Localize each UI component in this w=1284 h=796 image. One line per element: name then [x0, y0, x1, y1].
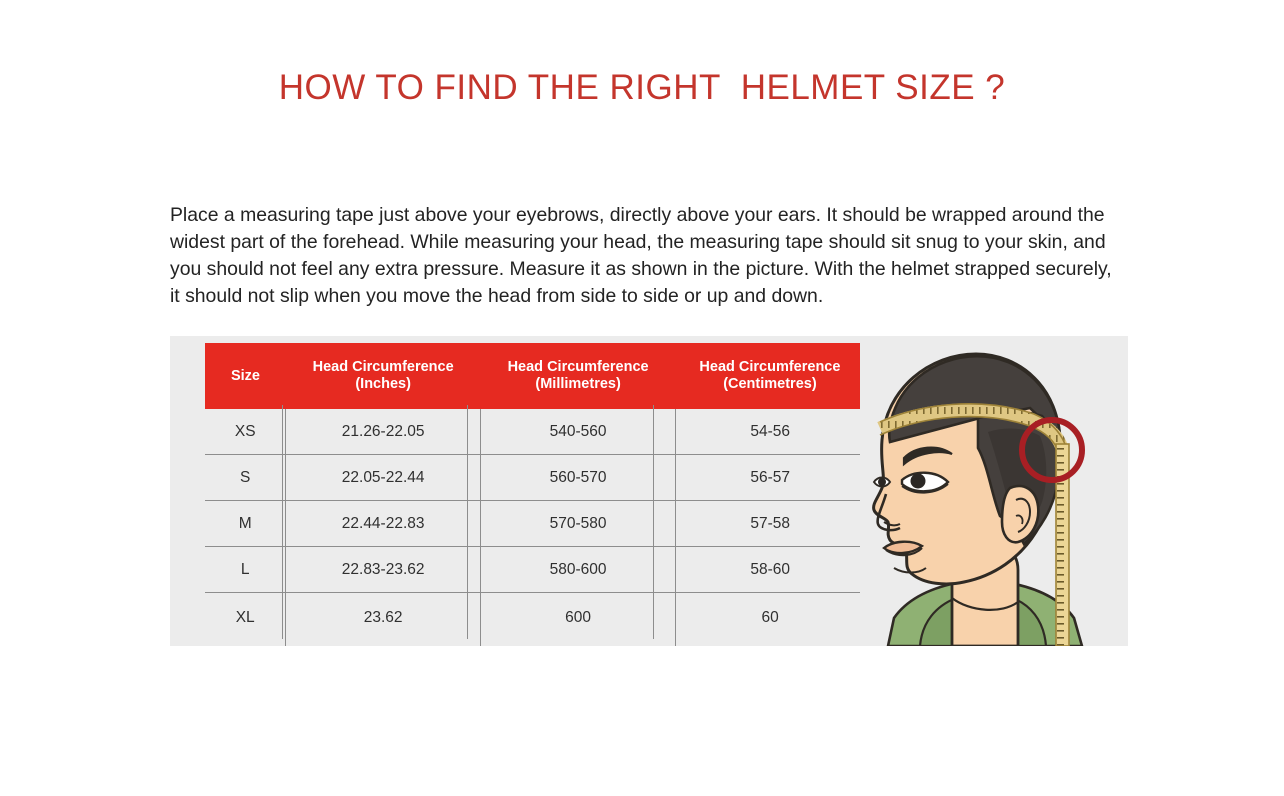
cell-millimetres: 600 [480, 593, 675, 647]
column-header-size-label: Size [231, 368, 260, 384]
helmet-size-table: Size Head Circumference (Inches) Head Ci… [205, 343, 864, 646]
cell-inches: 22.05-22.44 [286, 455, 480, 501]
page-title: HOW TO FIND THE RIGHT HELMET SIZE ? [0, 68, 1284, 108]
column-header-centimetres: Head Circumference (Centimetres) [676, 343, 864, 409]
column-header-millimetres-label: Head Circumference [508, 359, 649, 375]
cell-centimetres: 56-57 [676, 455, 864, 501]
cell-centimetres: 60 [676, 593, 864, 647]
table-row: XL 23.62 600 60 [205, 593, 864, 647]
cell-size: L [205, 547, 286, 593]
table-column-divider [282, 405, 283, 639]
column-header-centimetres-unit: (Centimetres) [678, 376, 862, 393]
column-header-millimetres-unit: (Millimetres) [482, 376, 673, 393]
column-header-inches: Head Circumference (Inches) [286, 343, 480, 409]
cell-inches: 22.83-23.62 [286, 547, 480, 593]
cell-centimetres: 58-60 [676, 547, 864, 593]
column-header-millimetres: Head Circumference (Millimetres) [480, 343, 675, 409]
column-header-inches-unit: (Inches) [288, 376, 478, 393]
mouth-shape [884, 542, 922, 555]
column-header-size: Size [205, 343, 286, 409]
cell-millimetres: 580-600 [480, 547, 675, 593]
instructions-paragraph: Place a measuring tape just above your e… [170, 202, 1122, 310]
table-row: S 22.05-22.44 560-570 56-57 [205, 455, 864, 501]
cell-centimetres: 54-56 [676, 409, 864, 455]
eye-shape [902, 473, 948, 493]
cell-inches: 21.26-22.05 [286, 409, 480, 455]
cell-inches: 22.44-22.83 [286, 501, 480, 547]
cell-size: XL [205, 593, 286, 647]
cell-millimetres: 540-560 [480, 409, 675, 455]
head-measuring-illustration [860, 336, 1128, 646]
cell-centimetres: 57-58 [676, 501, 864, 547]
cell-millimetres: 560-570 [480, 455, 675, 501]
size-chart-panel: Size Head Circumference (Inches) Head Ci… [170, 336, 1128, 646]
cell-millimetres: 570-580 [480, 501, 675, 547]
table-column-divider [467, 405, 468, 639]
cell-size: M [205, 501, 286, 547]
table-row: XS 21.26-22.05 540-560 54-56 [205, 409, 864, 455]
cell-inches: 23.62 [286, 593, 480, 647]
cell-size: XS [205, 409, 286, 455]
column-header-inches-label: Head Circumference [313, 359, 454, 375]
table-row: L 22.83-23.62 580-600 58-60 [205, 547, 864, 593]
table-row: M 22.44-22.83 570-580 57-58 [205, 501, 864, 547]
table-header-row: Size Head Circumference (Inches) Head Ci… [205, 343, 864, 409]
column-header-centimetres-label: Head Circumference [699, 359, 840, 375]
table-column-divider [653, 405, 654, 639]
cell-size: S [205, 455, 286, 501]
